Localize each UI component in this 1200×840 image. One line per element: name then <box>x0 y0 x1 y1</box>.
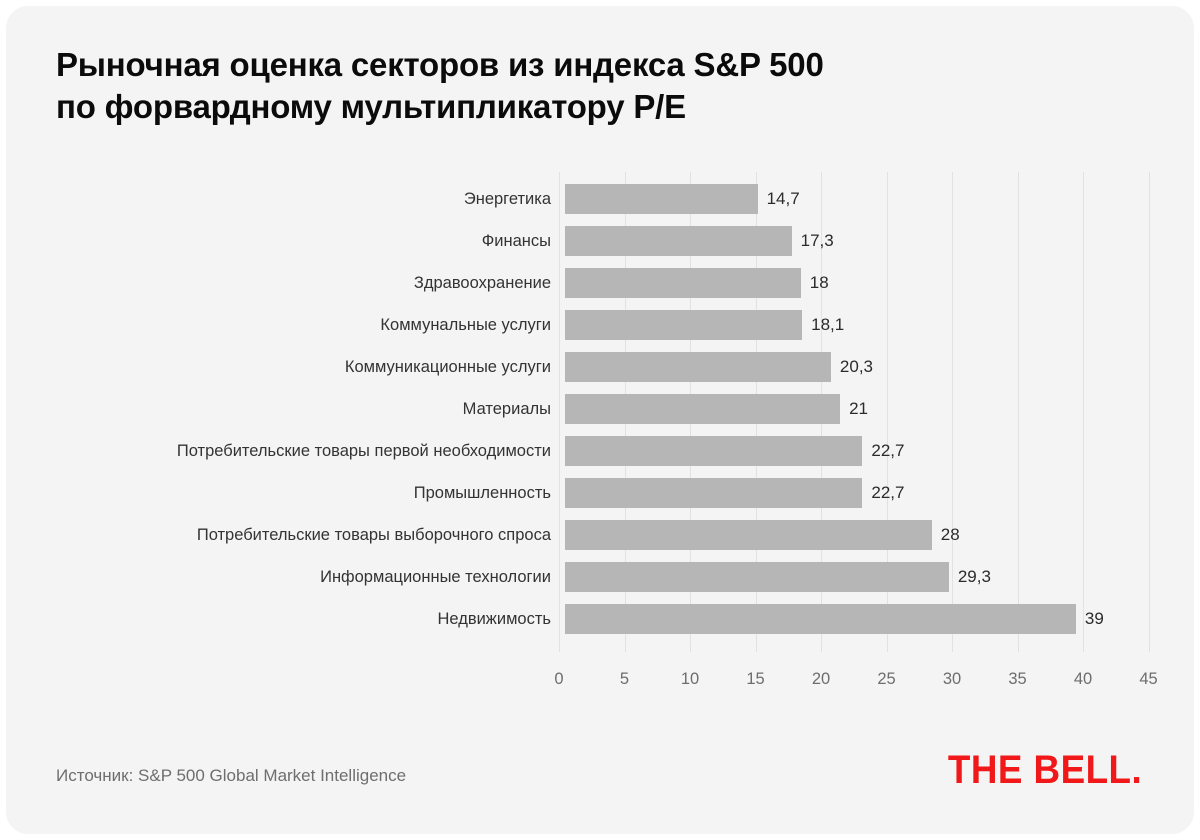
bar <box>565 394 840 424</box>
bar-value-label: 21 <box>849 388 868 430</box>
category-label: Потребительские товары выборочного спрос… <box>197 514 551 556</box>
bar-row: Коммунальные услуги18,1 <box>6 304 1194 346</box>
chart-card: Рыночная оценка секторов из индекса S&P … <box>6 6 1194 834</box>
bar-value-label: 17,3 <box>801 220 834 262</box>
bar <box>565 436 862 466</box>
bar-value-label: 20,3 <box>840 346 873 388</box>
bar-value-label: 18,1 <box>811 304 844 346</box>
bar <box>565 226 792 256</box>
bar-value-label: 18 <box>810 262 829 304</box>
bar <box>565 268 801 298</box>
bar <box>565 184 758 214</box>
category-label: Коммунальные услуги <box>380 304 551 346</box>
bar-row: Потребительские товары выборочного спрос… <box>6 514 1194 556</box>
x-axis-tick-label: 45 <box>1139 670 1157 689</box>
x-axis-tick-label: 0 <box>554 670 563 689</box>
bar-value-label: 14,7 <box>767 178 800 220</box>
bar-value-label: 22,7 <box>871 430 904 472</box>
category-label: Недвижимость <box>437 598 551 640</box>
bar-row: Недвижимость39 <box>6 598 1194 640</box>
x-axis-tick-label: 10 <box>681 670 699 689</box>
the-bell-logo: THE BELL. <box>948 748 1142 793</box>
source-note: Источник: S&P 500 Global Market Intellig… <box>56 766 406 786</box>
category-label: Материалы <box>463 388 551 430</box>
category-label: Здравоохранение <box>414 262 551 304</box>
x-axis-tick-label: 5 <box>620 670 629 689</box>
bar <box>565 520 932 550</box>
x-axis-tick-label: 20 <box>812 670 830 689</box>
bar-row: Материалы21 <box>6 388 1194 430</box>
bar-row: Потребительские товары первой необходимо… <box>6 430 1194 472</box>
category-label: Энергетика <box>464 178 551 220</box>
bar <box>565 352 831 382</box>
bar-row: Здравоохранение18 <box>6 262 1194 304</box>
bar-value-label: 28 <box>941 514 960 556</box>
bar-row: Финансы17,3 <box>6 220 1194 262</box>
bar-row: Промышленность22,7 <box>6 472 1194 514</box>
category-label: Информационные технологии <box>320 556 551 598</box>
bar <box>565 478 862 508</box>
x-axis-tick-label: 25 <box>877 670 895 689</box>
category-label: Коммуникационные услуги <box>345 346 551 388</box>
x-axis-tick-label: 40 <box>1074 670 1092 689</box>
x-axis-tick-label: 35 <box>1008 670 1026 689</box>
bar-chart: Энергетика14,7Финансы17,3Здравоохранение… <box>6 6 1194 834</box>
bar <box>565 604 1076 634</box>
bar-value-label: 22,7 <box>871 472 904 514</box>
bar-row: Информационные технологии29,3 <box>6 556 1194 598</box>
category-label: Промышленность <box>414 472 551 514</box>
bar <box>565 310 802 340</box>
x-axis-tick-label: 15 <box>746 670 764 689</box>
category-label: Финансы <box>482 220 551 262</box>
x-axis-tick-label: 30 <box>943 670 961 689</box>
bar <box>565 562 949 592</box>
bar-row: Коммуникационные услуги20,3 <box>6 346 1194 388</box>
bar-value-label: 39 <box>1085 598 1104 640</box>
bar-row: Энергетика14,7 <box>6 178 1194 220</box>
bar-value-label: 29,3 <box>958 556 991 598</box>
category-label: Потребительские товары первой необходимо… <box>177 430 551 472</box>
